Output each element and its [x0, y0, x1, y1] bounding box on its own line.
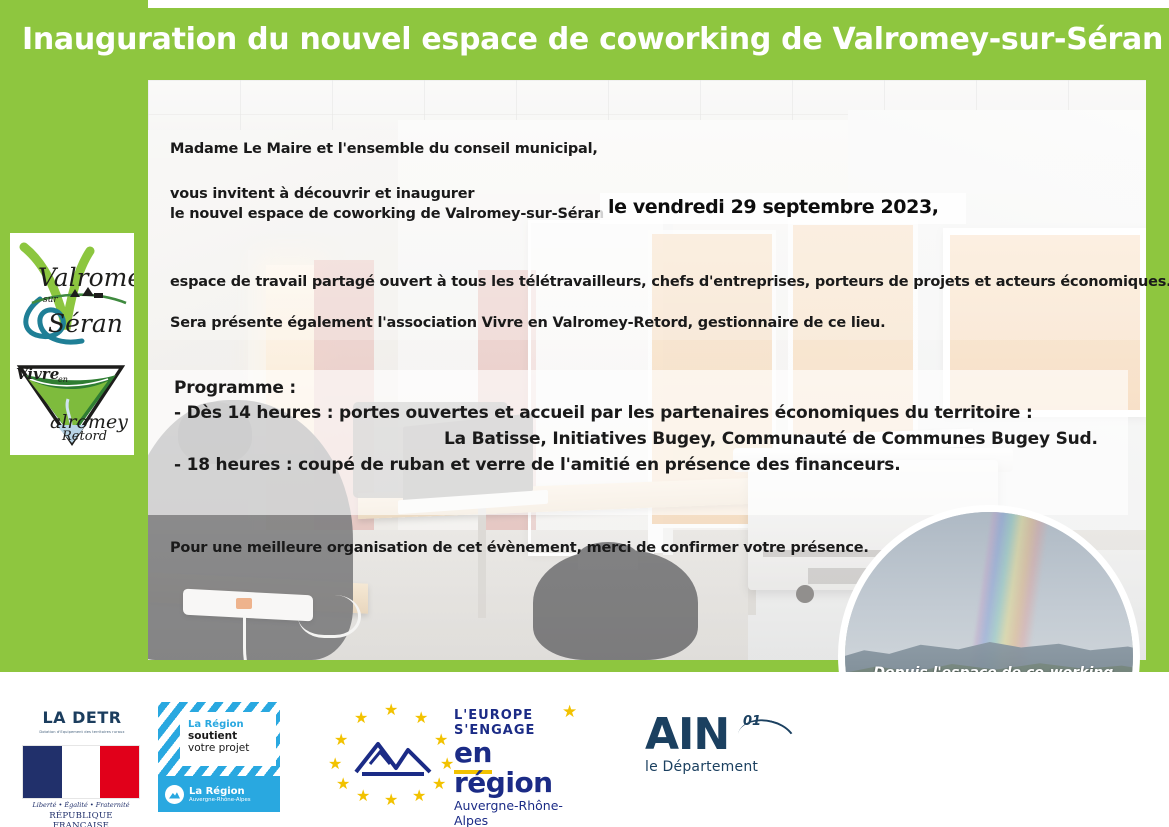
valromey-wordmark: Valromey: [38, 263, 134, 292]
flag-red-band: [100, 746, 139, 798]
programme-item-2: - 18 heures : coupé de ruban et verre de…: [174, 455, 900, 475]
green-accent-right: [1146, 653, 1169, 672]
eu-line-3: Auvergne-Rhône-Alpes: [454, 798, 588, 827]
poster-root: Inauguration du nouvel espace de coworki…: [0, 0, 1169, 827]
en-word: en: [58, 375, 68, 384]
programme-item-1: - Dès 14 heures : portes ouvertes et acc…: [174, 403, 1033, 423]
republic-motto: Liberté • Égalité • Fraternité: [22, 801, 140, 809]
eu-star-circle: ★ ★ ★ ★ ★ ★ ★ ★ ★ ★ ★ ★: [326, 702, 458, 806]
invitation-line-2: le nouvel espace de coworking de Valrome…: [170, 206, 604, 222]
la-detr-title: LA DETR: [22, 708, 142, 727]
republic-name: RÉPUBLIQUE FRANÇAISE: [22, 811, 140, 827]
valromey-sur-word: sur: [43, 295, 58, 305]
description-line: espace de travail partagé ouvert à tous …: [170, 274, 1169, 290]
programme-partners: La Batisse, Initiatives Bugey, Communaut…: [444, 429, 1098, 449]
region-brand-sub: Auvergne-Rhône-Alpes: [189, 797, 251, 803]
eu-star-icon: ★: [384, 792, 398, 808]
page-title: Inauguration du nouvel espace de coworki…: [22, 22, 1142, 57]
flag-blue-band: [23, 746, 62, 798]
ain-number: 01: [743, 714, 761, 729]
french-flag: [22, 745, 140, 799]
region-mountain-icon: [165, 785, 184, 804]
eu-star-icon: ★: [412, 788, 426, 804]
eu-star-icon: ★: [336, 776, 350, 792]
region-message-card: La Région soutient votre projet: [180, 712, 276, 766]
greeting-line: Madame Le Maire et l'ensemble du conseil…: [170, 141, 598, 157]
logo-la-detr: LA DETR Dotation d'Equipement des territ…: [22, 708, 142, 827]
region-mountain-logo-icon: [352, 734, 434, 776]
valromey-logo-artwork: [10, 233, 134, 365]
flag-white-band: [62, 746, 101, 798]
eu-star-icon: ★: [334, 732, 348, 748]
logo-la-region-soutient: La Région soutient votre projet La Régio…: [158, 702, 280, 812]
event-date: le vendredi 29 septembre 2023,: [608, 196, 939, 218]
eu-star-icon: ★: [354, 710, 368, 726]
eu-star-icon: ★: [432, 776, 446, 792]
marianne-profile-icon: [70, 750, 92, 794]
region-line-3: votre projet: [188, 742, 276, 754]
eu-star-icon: ★: [434, 732, 448, 748]
vivre-word: Vivre: [16, 365, 59, 383]
eu-star-icon: ★: [328, 756, 342, 772]
logo-ain-departement: AIN 01 le Département: [645, 712, 795, 792]
republique-francaise-logo: Liberté • Égalité • Fraternité RÉPUBLIQU…: [22, 745, 140, 827]
valromey-seran-word: Séran: [48, 309, 123, 338]
eu-star-icon: ★: [384, 702, 398, 718]
eu-line-2: en région: [454, 738, 588, 798]
eu-line-2-region: région: [454, 766, 553, 799]
programme-title: Programme :: [174, 378, 296, 398]
region-brand-name: La Région: [189, 786, 251, 797]
eu-line-1: L'EUROPE S'ENGAGE: [454, 708, 588, 738]
eu-star-icon: ★: [356, 788, 370, 804]
la-detr-subtitle: Dotation d'Equipement des territoires ru…: [22, 730, 142, 734]
region-brand-text: La Région Auvergne-Rhône-Alpes: [189, 786, 251, 803]
region-line-1: La Région: [188, 719, 276, 730]
region-brand-bar: La Région Auvergne-Rhône-Alpes: [158, 776, 280, 812]
eu-star-icon: ★: [414, 710, 428, 726]
eu-star-icon: ★: [440, 756, 454, 772]
rsvp-line: Pour une meilleure organisation de cet é…: [170, 540, 869, 556]
region-line-2: soutient: [188, 730, 276, 742]
top-white-notch: [148, 0, 1169, 8]
valromey-logo-card: Valromey sur Séran Vivre en alromey Reto…: [10, 233, 134, 455]
invitation-line-1: vous invitent à découvrir et inaugurer: [170, 186, 474, 202]
eu-wordmark: L'EUROPE S'ENGAGE en région Auvergne-Rhô…: [454, 708, 588, 827]
footer-logo-strip: LA DETR Dotation d'Equipement des territ…: [0, 672, 1169, 827]
association-line: Sera présente également l'association Vi…: [170, 315, 885, 331]
logo-europe-en-region: ★ ★ ★ ★ ★ ★ ★ ★ ★ ★ ★ ★ ★ L'EUROP: [326, 702, 588, 806]
retord-word: Retord: [62, 429, 107, 444]
